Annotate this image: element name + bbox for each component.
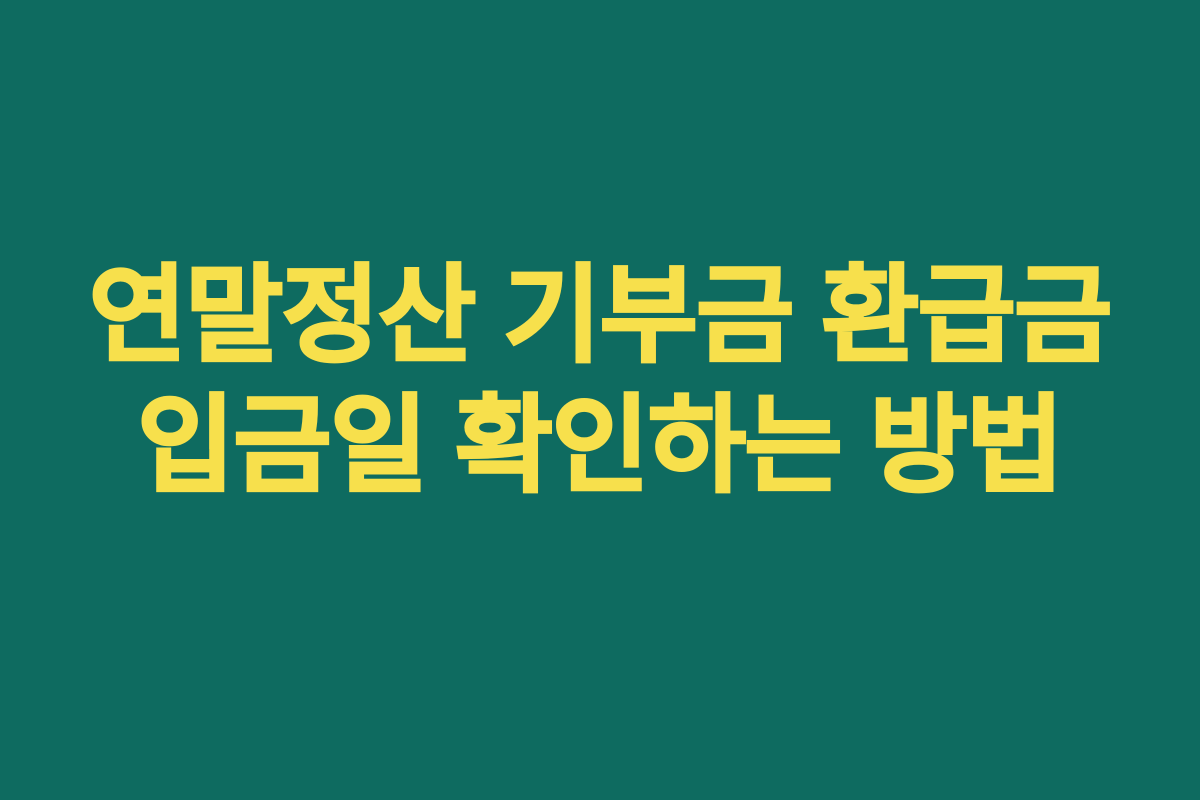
title-line-primary: 연말정산 기부금 환급금 — [0, 251, 1200, 381]
thumbnail-card: 연말정산 기부금 환급금 입금일 확인하는 방법 — [0, 0, 1200, 800]
title-block: 연말정산 기부금 환급금 입금일 확인하는 방법 — [0, 0, 1200, 800]
title-line-secondary: 입금일 확인하는 방법 — [0, 381, 1200, 511]
